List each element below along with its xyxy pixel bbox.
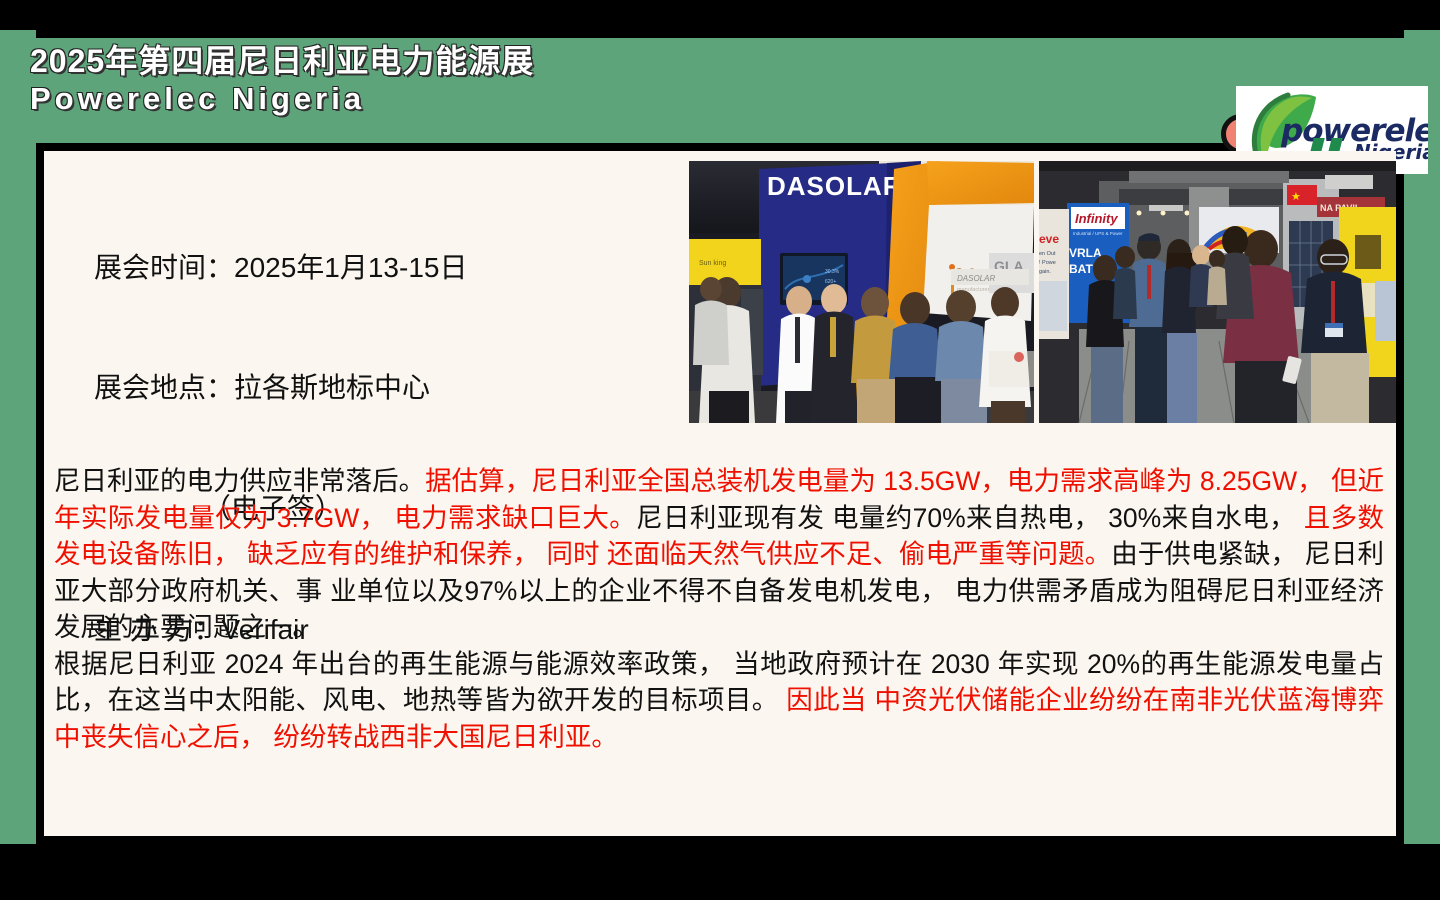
slide-bottom-border [0,844,1440,880]
p1-seg-0: 尼日利亚的电力供应非常落后。 [54,466,425,496]
photo-dasolar-booth: DASOLAR Top 5 solar PV cell manufacturer… [689,161,1034,423]
svg-text:VRLA: VRLA [1069,246,1102,260]
svg-text:★: ★ [1291,191,1301,203]
svg-text:Infinity: Infinity [1075,211,1118,226]
page-title-cn: 2025年第四届尼日利亚电力能源展 [30,43,534,81]
photo-left-art: DASOLAR Top 5 solar PV cell manufacturer… [689,161,1034,423]
photo-exhibition-aisle: Infinity Industrial / UPS & Power VRLA B… [1039,161,1396,423]
p1-seg-2: 尼日利亚现有发 电量约70%来自热电， 30%来自水电， [636,503,1304,533]
screen: 2025年第四届尼日利亚电力能源展 Powerelec Nigeria powe… [0,0,1440,900]
paragraph-1: 尼日利亚的电力供应非常落后。据估算，尼日利亚全国总装机发电量为 13.5GW，电… [54,463,1384,646]
header-title-group: 2025年第四届尼日利亚电力能源展 Powerelec Nigeria [30,43,534,117]
slide-content: 展会时间：2025年1月13-15日 展会地点：拉各斯地标中心 （电子签） 主 … [44,151,1396,836]
slide: 2025年第四届尼日利亚电力能源展 Powerelec Nigeria powe… [0,30,1440,880]
event-date: 展会时间：2025年1月13-15日 [94,248,694,288]
event-venue: 展会地点：拉各斯地标中心 [94,368,694,408]
svg-text:DASOLAR: DASOLAR [957,274,995,283]
svg-text:DASOLAR: DASOLAR [767,171,903,201]
svg-text:eve: eve [1039,232,1059,246]
svg-text:30.3%: 30.3% [825,269,840,275]
svg-text:Sun king: Sun king [699,260,726,267]
slide-left-border [0,30,36,880]
svg-text:en Out: en Out [1039,251,1056,257]
svg-text:BAT: BAT [1069,262,1093,276]
paragraph-2: 根据尼日利亚 2024 年出台的再生能源与能源效率政策， 当地政府预计在 203… [54,646,1384,756]
slide-header: 2025年第四届尼日利亚电力能源展 Powerelec Nigeria powe… [8,38,1440,143]
svg-text:! Powe: ! Powe [1039,260,1056,266]
svg-text:gain.: gain. [1039,269,1051,275]
svg-text:Industrial / UPS & Power: Industrial / UPS & Power [1073,231,1123,236]
photo-right-art: Infinity Industrial / UPS & Power VRLA B… [1039,161,1396,423]
page-title-en: Powerelec Nigeria [30,81,534,118]
body-text: 尼日利亚的电力供应非常落后。据估算，尼日利亚全国总装机发电量为 13.5GW，电… [54,463,1384,756]
